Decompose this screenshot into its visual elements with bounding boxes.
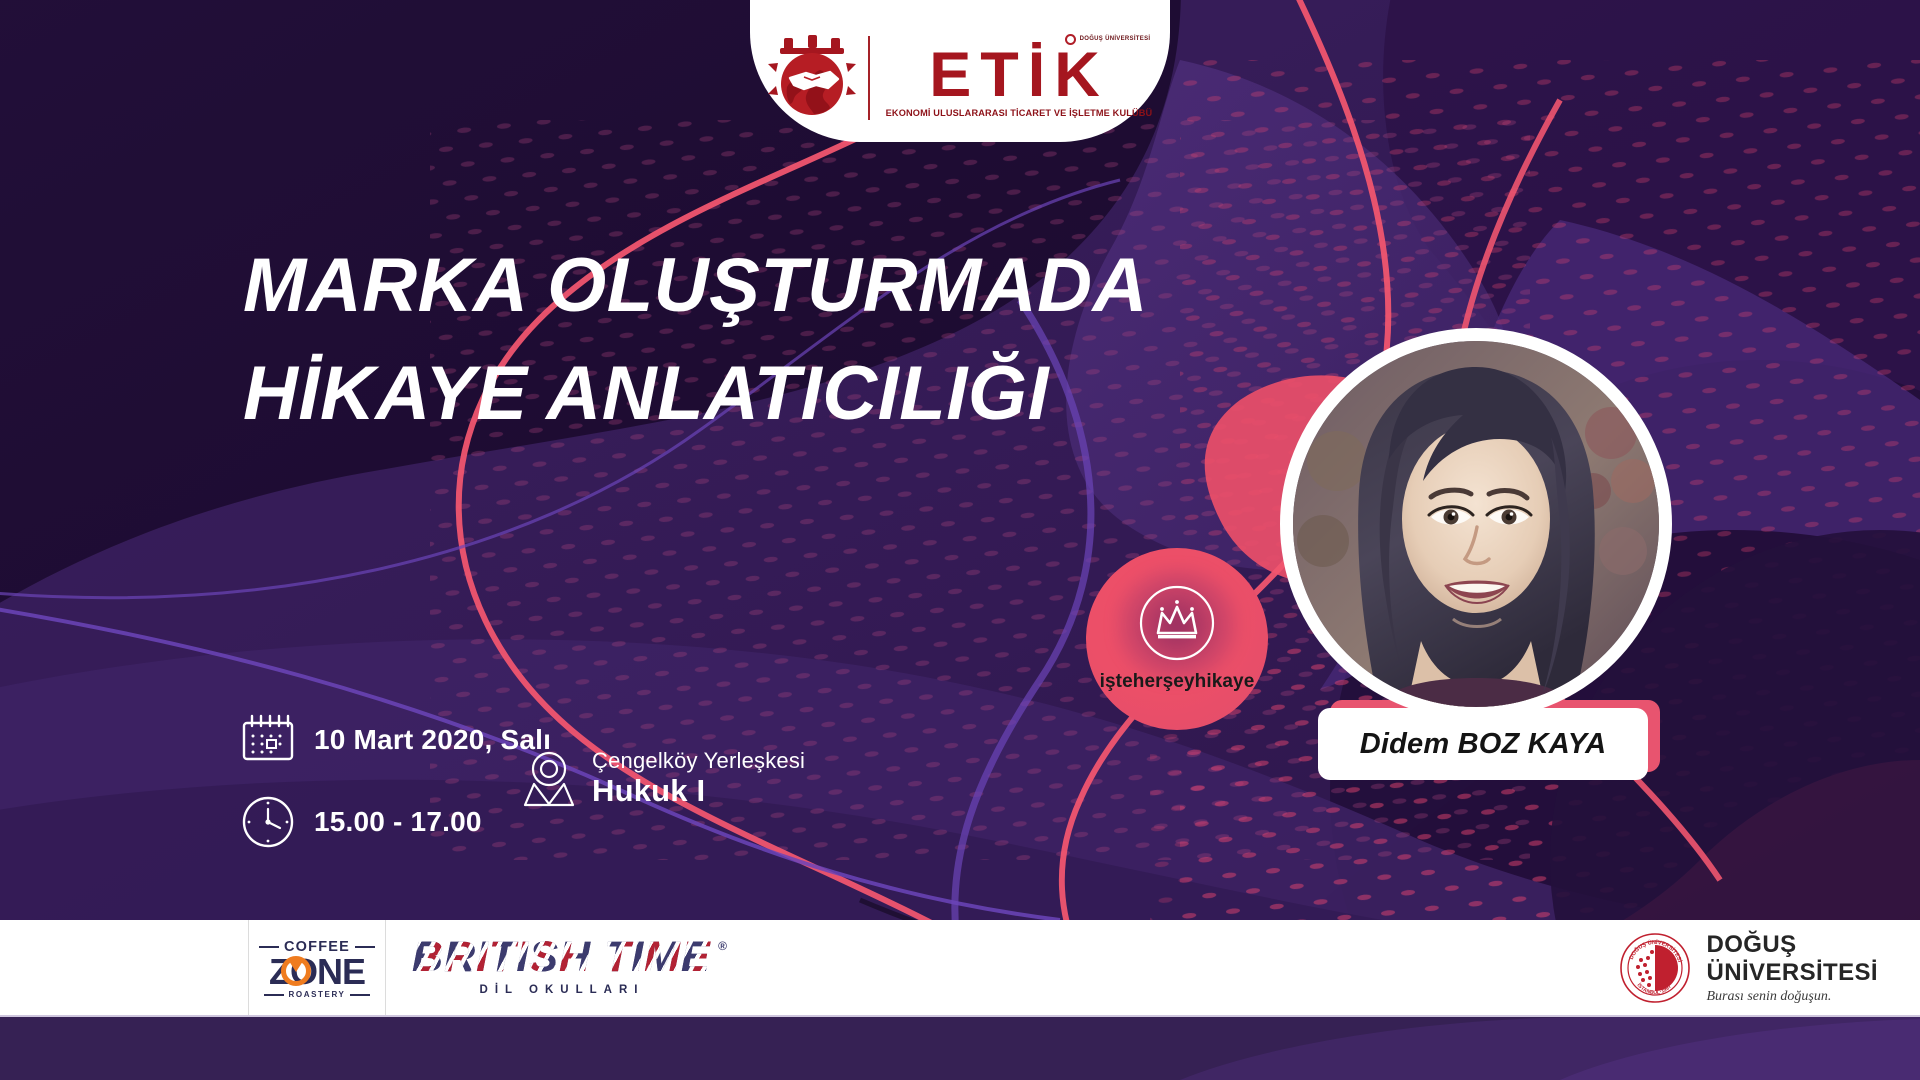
event-poster: DOĞUŞ ÜNİVERSİTESİ ETİK EKONOMİ ULUSLARA…	[0, 0, 1920, 1080]
partner-badge-label: işteherşeyhikaye	[1100, 671, 1255, 693]
speaker-name-badge: Didem BOZ KAYA	[1318, 708, 1648, 780]
university-name-line2: ÜNİVERSİTESİ	[1707, 961, 1879, 985]
sponsor-british-time: BRITISH TIME ® DİL OKULLARI	[412, 936, 712, 1002]
sponsor-separator-2	[385, 920, 386, 1017]
bt-registered-mark: ®	[718, 940, 728, 952]
university-logo: DOĞUŞ ÜNİVERSİTESİ İSTANBUL·1997 DOĞUŞ Ü…	[1619, 932, 1879, 1004]
university-tagline: Burası senin doğuşun.	[1707, 990, 1879, 1004]
title-line-2: HİKAYE ANLATICILIĞI	[243, 340, 1148, 448]
venue-campus: Çengelköy Yerleşkesi	[592, 749, 805, 774]
organizer-logo-card: DOĞUŞ ÜNİVERSİTESİ ETİK EKONOMİ ULUSLARA…	[750, 0, 1170, 142]
event-details: 10 Mart 2020, Salı 15.00 - 17.00	[240, 712, 551, 876]
bt-text: BRITISH TIME	[412, 933, 711, 981]
cz-rule-right	[355, 946, 375, 948]
partner-badge: işteherşeyhikaye	[1086, 548, 1268, 730]
location-pin-icon	[520, 748, 578, 810]
globe-handshake-icon	[768, 32, 856, 124]
sponsor-separator-1	[248, 920, 249, 1017]
cz-triangle-icon	[289, 961, 303, 972]
organizer-university-tag: DOĞUŞ ÜNİVERSİTESİ	[1065, 34, 1151, 45]
organizer-name: ETİK	[929, 46, 1109, 106]
poster-title: MARKA OLUŞTURMADA HİKAYE ANLATICILIĞI	[243, 232, 1148, 448]
speaker-name: Didem BOZ KAYA	[1360, 728, 1607, 761]
university-name-line1: DOĞUŞ	[1707, 933, 1879, 957]
title-line-1: MARKA OLUŞTURMADA	[243, 232, 1148, 340]
event-time: 15.00 - 17.00	[314, 806, 482, 838]
sponsor-bar-underline	[0, 1015, 1920, 1017]
cz-rule-left	[259, 946, 279, 948]
calendar-icon	[240, 712, 296, 768]
event-time-row: 15.00 - 17.00	[240, 794, 551, 850]
bt-wordmark: BRITISH TIME ®	[412, 936, 712, 979]
sponsor-bar: COFFEE ZONE ROASTERY BRITISH TIME ® DİL …	[0, 920, 1920, 1017]
event-date-row: 10 Mart 2020, Salı	[240, 712, 551, 768]
clock-icon	[240, 794, 296, 850]
cz-rule-b-right	[350, 994, 370, 996]
speaker-avatar	[1280, 328, 1672, 720]
sponsor-coffee-zone: COFFEE ZONE ROASTERY	[258, 934, 376, 1004]
dogus-mini-seal-icon	[1065, 34, 1076, 45]
event-date: 10 Mart 2020, Salı	[314, 724, 551, 756]
venue-room: Hukuk I	[592, 774, 805, 809]
event-venue: Çengelköy Yerleşkesi Hukuk I	[520, 748, 805, 810]
dogus-university-seal: DOĞUŞ ÜNİVERSİTESİ İSTANBUL·1997	[1619, 932, 1691, 1004]
bottom-strip	[0, 1017, 1920, 1080]
bt-subtitle: DİL OKULLARI	[412, 984, 712, 996]
logo-divider	[868, 36, 870, 120]
cz-zone-label: ZONE	[269, 954, 365, 989]
crown-icon	[1137, 583, 1217, 663]
organizer-subtitle: EKONOMİ ULUSLARARASI TİCARET VE İŞLETME …	[886, 108, 1153, 118]
cz-rule-b-left	[264, 994, 284, 996]
